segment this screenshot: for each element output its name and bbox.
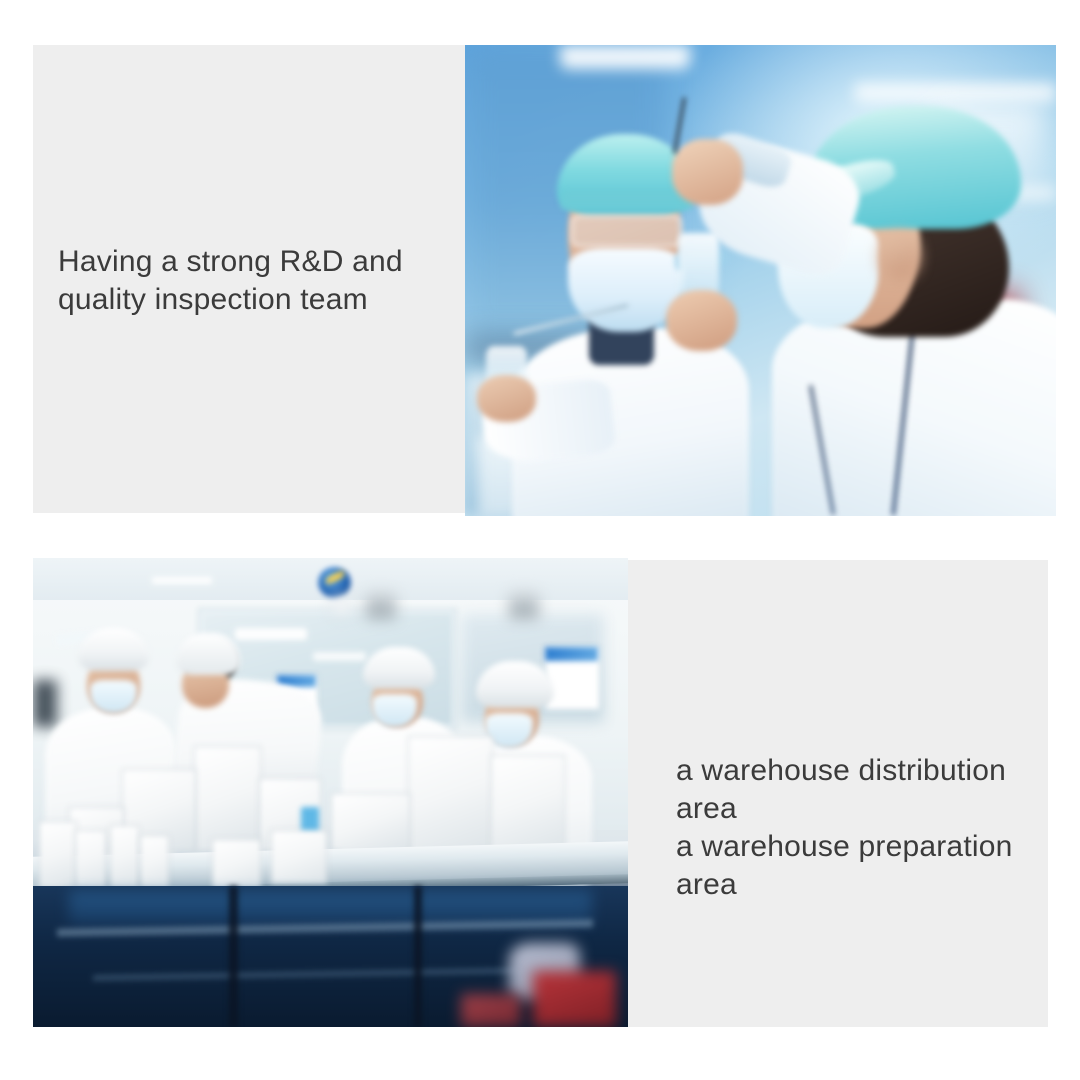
red-container <box>533 971 616 1027</box>
table-leg-2 <box>414 886 422 1027</box>
carton-stack-center-right <box>331 793 410 851</box>
steel-container-2 <box>509 591 539 619</box>
warehouse-ceiling-lamp <box>152 577 212 585</box>
carton-front-4 <box>140 835 169 889</box>
bottom-caption-panel: a warehouse distribution area a warehous… <box>628 560 1048 1027</box>
under-table-blue-panel <box>69 891 593 924</box>
warehouse-packing-photo <box>33 558 628 1027</box>
carton-front-2 <box>75 830 107 888</box>
worker-right-ear <box>879 233 920 280</box>
worker-right-hand-lower <box>666 290 737 351</box>
carton-stack-center <box>194 746 261 851</box>
top-caption-text: Having a strong R&D and quality inspecti… <box>58 243 458 319</box>
worker-left-safety-glasses <box>571 215 681 247</box>
table-leg-1 <box>229 886 237 1027</box>
page-root: Having a strong R&D and quality inspecti… <box>0 0 1080 1080</box>
company-logo-sign-icon <box>316 565 353 599</box>
carton-front-5 <box>271 830 327 884</box>
bottom-caption-text: a warehouse distribution area a warehous… <box>676 752 1056 904</box>
packer-4-hairnet <box>476 661 553 708</box>
carton-front-1 <box>39 821 77 889</box>
wall-notice-board-2-header <box>545 647 599 661</box>
carton-stack-far-right <box>491 755 564 851</box>
bottom-section: a warehouse distribution area a warehous… <box>33 558 1048 1027</box>
carton-stack-back-right <box>408 736 493 851</box>
steel-container <box>366 591 396 619</box>
worker-left-cap-band <box>560 191 693 210</box>
top-caption-panel: Having a strong R&D and quality inspecti… <box>33 45 465 513</box>
lab-shelf-upper <box>855 83 1056 102</box>
warehouse-window-light <box>235 628 306 640</box>
warehouse-scene <box>33 558 628 1027</box>
packer-3-hairnet <box>363 647 434 689</box>
warehouse-window-light-2 <box>313 652 367 661</box>
worker-left-hand <box>477 375 536 422</box>
carton-front-3 <box>110 825 139 888</box>
warehouse-dark-recess <box>33 680 57 727</box>
red-container-2 <box>461 994 521 1027</box>
lab-inspection-photo <box>465 45 1056 516</box>
packer-3-mask <box>372 694 417 727</box>
lab-ceiling-light <box>560 45 690 69</box>
carton-front-6 <box>212 839 262 888</box>
top-section: Having a strong R&D and quality inspecti… <box>33 45 1056 516</box>
lab-scene <box>465 45 1056 516</box>
worker-right-hand-upper <box>672 139 743 205</box>
